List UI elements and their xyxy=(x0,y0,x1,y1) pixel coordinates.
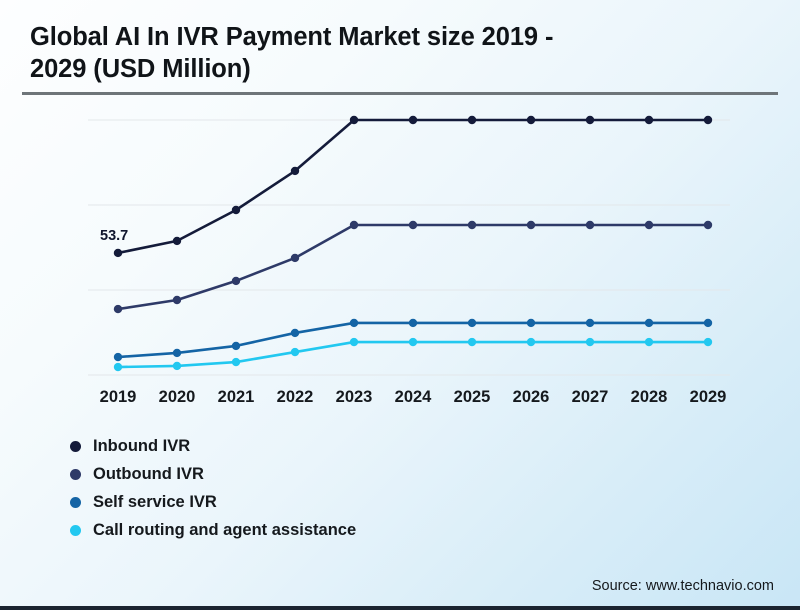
x-axis-tick-2019: 2019 xyxy=(88,388,148,407)
series-point-3-4 xyxy=(350,338,358,346)
series-point-1-4 xyxy=(350,221,358,229)
series-0 xyxy=(114,116,712,257)
legend-dot-icon xyxy=(70,525,81,536)
series-point-0-8 xyxy=(586,116,594,124)
legend-dot-icon xyxy=(70,497,81,508)
series-point-0-4 xyxy=(350,116,358,124)
legend-item-label: Call routing and agent assistance xyxy=(93,521,356,540)
series-point-2-2 xyxy=(232,342,240,350)
series-point-0-1 xyxy=(173,237,181,245)
series-point-0-7 xyxy=(527,116,535,124)
x-axis-tick-2024: 2024 xyxy=(383,388,443,407)
chart-legend: Inbound IVROutbound IVRSelf service IVRC… xyxy=(70,432,630,544)
series-point-2-4 xyxy=(350,319,358,327)
legend-item-label: Inbound IVR xyxy=(93,437,190,456)
series-point-2-0 xyxy=(114,353,122,361)
series-point-3-7 xyxy=(527,338,535,346)
x-axis-tick-2020: 2020 xyxy=(147,388,207,407)
series-point-0-5 xyxy=(409,116,417,124)
series-point-3-10 xyxy=(704,338,712,346)
x-axis-tick-2028: 2028 xyxy=(619,388,679,407)
gridlines xyxy=(88,120,730,375)
series-point-3-0 xyxy=(114,363,122,371)
legend-item-3[interactable]: Call routing and agent assistance xyxy=(70,516,630,544)
series-point-0-3 xyxy=(291,167,299,175)
legend-item-0[interactable]: Inbound IVR xyxy=(70,432,630,460)
x-axis-labels: 2019202020212022202320242025202620272028… xyxy=(0,388,800,410)
series-point-3-6 xyxy=(468,338,476,346)
title-block: Global AI In IVR Payment Market size 201… xyxy=(30,22,670,85)
series-line-0 xyxy=(118,120,708,253)
series-point-3-8 xyxy=(586,338,594,346)
series-point-1-3 xyxy=(291,254,299,262)
series-point-1-7 xyxy=(527,221,535,229)
series-point-3-3 xyxy=(291,348,299,356)
series-point-3-1 xyxy=(173,362,181,370)
series-1 xyxy=(114,221,712,313)
series-point-1-5 xyxy=(409,221,417,229)
series-point-2-8 xyxy=(586,319,594,327)
series-point-1-9 xyxy=(645,221,653,229)
x-axis-tick-2021: 2021 xyxy=(206,388,266,407)
x-axis-tick-2029: 2029 xyxy=(678,388,738,407)
x-axis-tick-2027: 2027 xyxy=(560,388,620,407)
series-point-2-3 xyxy=(291,329,299,337)
x-axis-tick-2022: 2022 xyxy=(265,388,325,407)
legend-item-label: Self service IVR xyxy=(93,493,217,512)
x-axis-tick-2025: 2025 xyxy=(442,388,502,407)
legend-item-2[interactable]: Self service IVR xyxy=(70,488,630,516)
series-point-0-10 xyxy=(704,116,712,124)
series-3 xyxy=(114,338,712,371)
series-point-0-6 xyxy=(468,116,476,124)
series-2 xyxy=(114,319,712,361)
series-line-3 xyxy=(118,342,708,367)
series-point-1-2 xyxy=(232,277,240,285)
data-point-label-2019-inbound: 53.7 xyxy=(100,228,128,244)
x-axis-tick-2026: 2026 xyxy=(501,388,561,407)
series-point-2-7 xyxy=(527,319,535,327)
x-axis-tick-2023: 2023 xyxy=(324,388,384,407)
legend-dot-icon xyxy=(70,441,81,452)
series-point-1-10 xyxy=(704,221,712,229)
chart-page: Global AI In IVR Payment Market size 201… xyxy=(0,0,800,610)
series-point-1-8 xyxy=(586,221,594,229)
source-attribution: Source: www.technavio.com xyxy=(592,578,774,594)
legend-item-label: Outbound IVR xyxy=(93,465,204,484)
series-point-2-9 xyxy=(645,319,653,327)
series-point-2-10 xyxy=(704,319,712,327)
series-point-0-0 xyxy=(114,249,122,257)
series-point-2-6 xyxy=(468,319,476,327)
series-point-1-1 xyxy=(173,296,181,304)
page-title: Global AI In IVR Payment Market size 201… xyxy=(30,22,670,85)
series-line-1 xyxy=(118,225,708,309)
series-point-3-9 xyxy=(645,338,653,346)
legend-dot-icon xyxy=(70,469,81,480)
series-point-1-0 xyxy=(114,305,122,313)
series-point-0-2 xyxy=(232,206,240,214)
legend-item-1[interactable]: Outbound IVR xyxy=(70,460,630,488)
series-point-3-5 xyxy=(409,338,417,346)
series-point-0-9 xyxy=(645,116,653,124)
series-point-2-1 xyxy=(173,349,181,357)
series-line-2 xyxy=(118,323,708,357)
title-divider xyxy=(22,92,778,95)
series-point-2-5 xyxy=(409,319,417,327)
series-point-3-2 xyxy=(232,358,240,366)
series-point-1-6 xyxy=(468,221,476,229)
